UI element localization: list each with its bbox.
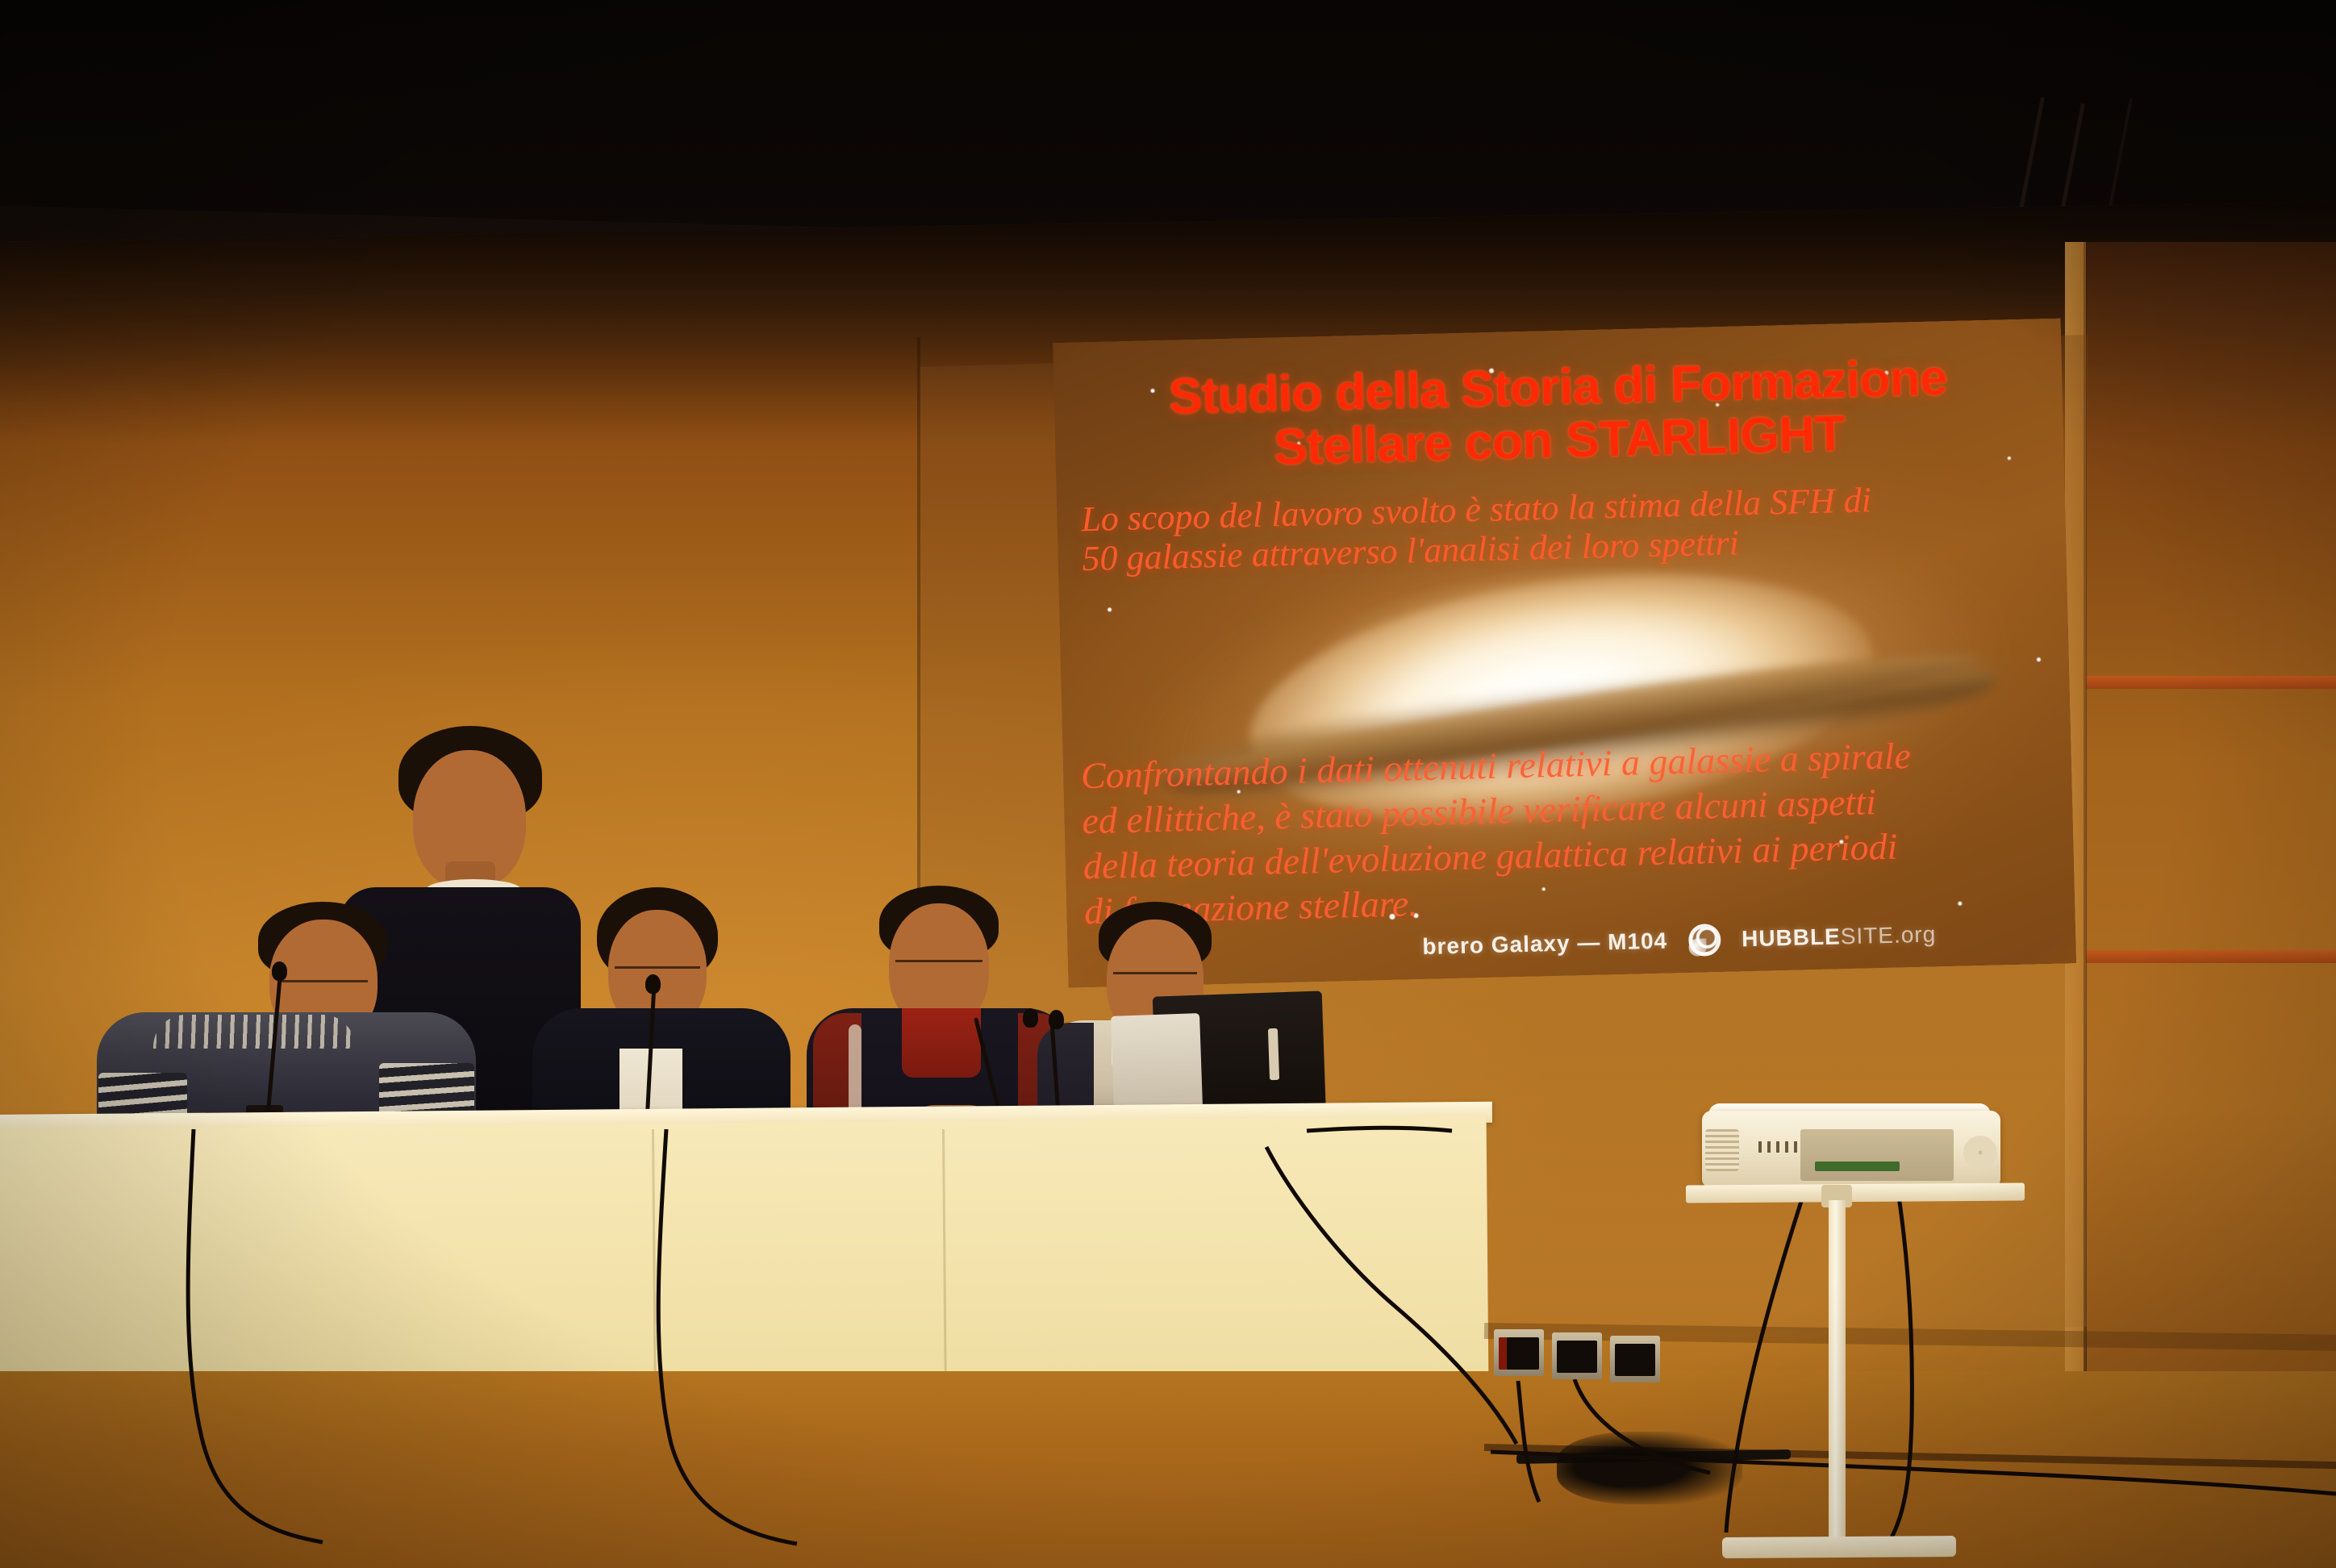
brand-dim: SITE: [1840, 923, 1894, 949]
projector-stand-pole: [1829, 1200, 1846, 1547]
hubblesite-wordmark: HUBBLESITE.org: [1742, 921, 1937, 952]
projector-connector-panel: [1800, 1129, 1954, 1181]
stage-floor: [0, 1371, 2336, 1568]
star-speck: [1108, 607, 1112, 611]
image-caption-text: brero Galaxy — M104: [1422, 928, 1668, 960]
brand-bold: HUBBLE: [1742, 924, 1841, 951]
star-speck: [2008, 457, 2011, 460]
projected-slide: Studio della Storia di Formazione Stella…: [1053, 318, 2076, 987]
eyeglasses: [615, 966, 700, 969]
brand-tld: .org: [1894, 921, 1937, 947]
eyeglasses: [895, 960, 982, 962]
floor-cable-bundle: [1557, 1432, 1742, 1504]
microphone-head: [1023, 1008, 1038, 1028]
socket-face: [1557, 1341, 1597, 1373]
wall-socket-3[interactable]: [1610, 1336, 1660, 1382]
socket-face: [1615, 1344, 1655, 1376]
wall-stripe: [2085, 950, 2336, 963]
wall-right-panel: [2085, 242, 2336, 1395]
wall-socket-2[interactable]: [1552, 1332, 1602, 1379]
slide-body-text: Confrontando i dati ottenuti relativi a …: [1080, 730, 2060, 935]
microphone-head: [645, 974, 661, 994]
hubblesite-logo-icon: [1688, 924, 1721, 957]
projector-control-buttons[interactable]: [1758, 1141, 1800, 1153]
laptop-latch: [1268, 1028, 1279, 1080]
projector-speaker-grille: [1963, 1136, 1997, 1170]
projector-circuit-board: [1815, 1161, 1900, 1171]
microphone-head: [272, 961, 287, 981]
microphone-head: [1049, 1010, 1064, 1029]
eyeglasses: [281, 980, 368, 982]
star-speck: [2037, 657, 2041, 661]
polo-red-panel: [902, 1008, 981, 1078]
sweater-stripe-shoulder: [153, 1015, 355, 1049]
projector-stand-base: [1722, 1536, 1956, 1558]
projector-vent: [1705, 1129, 1739, 1171]
photograph-scene: Studio della Storia di Formazione Stella…: [0, 0, 2336, 1568]
wall-socket-1[interactable]: [1494, 1329, 1544, 1376]
wall-stripe: [2085, 676, 2336, 689]
eyeglasses: [1113, 972, 1197, 974]
projector-stand-shelf: [1686, 1183, 2025, 1203]
socket-face: [1499, 1337, 1539, 1370]
